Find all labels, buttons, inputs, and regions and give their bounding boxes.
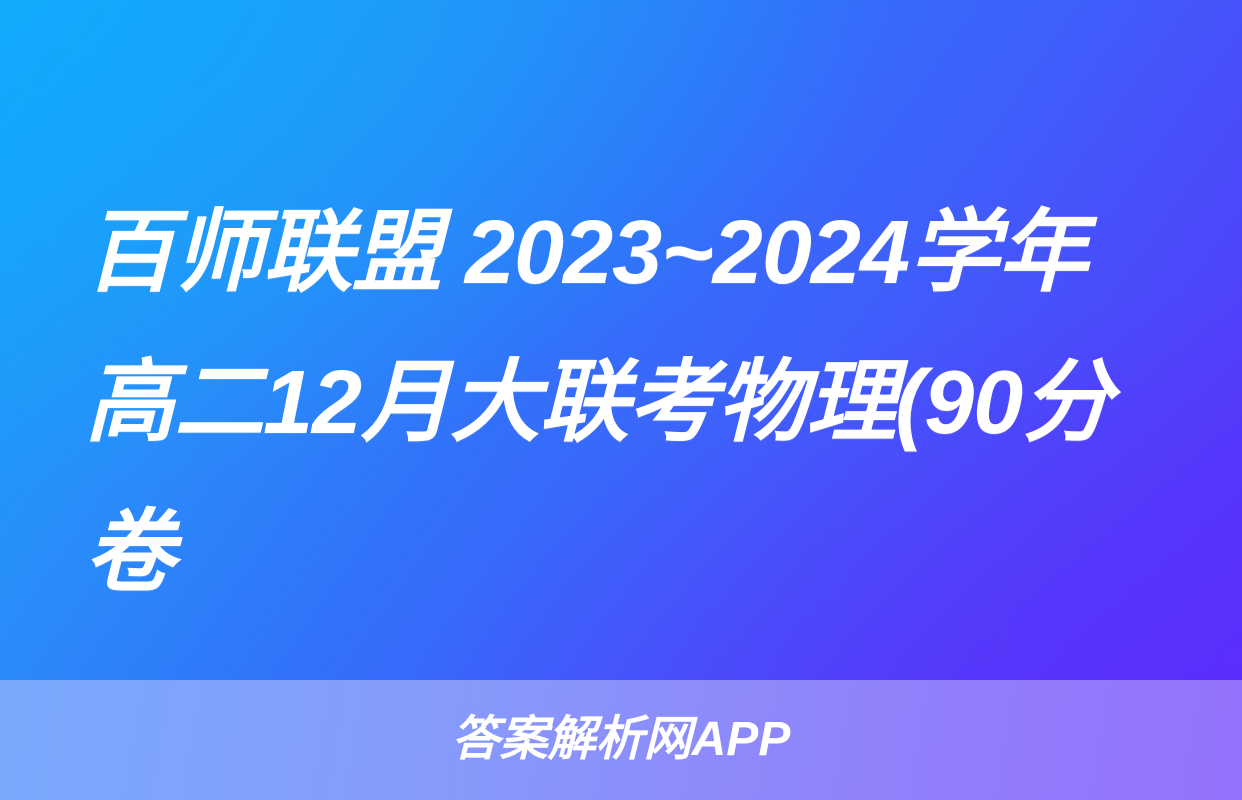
page-title: 百师联盟 2023~2024学年高二12月大联考物理(90分卷 <box>85 178 1163 628</box>
poster-title-container: 百师联盟 2023~2024学年高二12月大联考物理(90分卷 <box>85 178 1163 628</box>
exam-poster-card: 百师联盟 2023~2024学年高二12月大联考物理(90分卷 答案解析网APP <box>0 0 1242 800</box>
footer-brand-band: 答案解析网APP <box>0 680 1242 800</box>
app-brand-label: 答案解析网APP <box>452 716 791 764</box>
